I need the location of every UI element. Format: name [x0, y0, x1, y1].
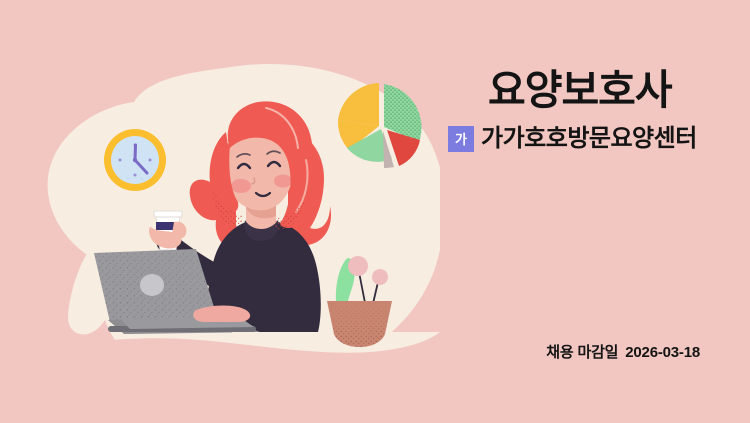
center-name: 가가호호방문요양센터 — [481, 127, 697, 151]
blush-left — [231, 179, 251, 193]
flower-ball-1 — [348, 256, 368, 276]
center-name-row: 가 가가호호방문요양센터 — [448, 126, 697, 152]
page-title: 요양보호사 — [488, 70, 672, 111]
cup-lid — [154, 211, 182, 217]
clock-icon — [104, 129, 166, 191]
deadline-date: 2026-03-18 — [625, 344, 700, 361]
text-panel: 요양보호사 가 가가호호방문요양센터 채용 마감일2026-03-18 — [440, 0, 750, 423]
flower-ball-2 — [372, 269, 388, 285]
deadline-label: 채용 마감일 — [546, 344, 618, 361]
job-posting-banner: 요양보호사 가 가가호호방문요양센터 채용 마감일2026-03-18 — [0, 0, 750, 423]
blush-right — [274, 175, 292, 188]
deadline-row: 채용 마감일2026-03-18 — [546, 341, 700, 362]
ga-badge-icon: 가 — [448, 126, 474, 152]
laptop-logo — [140, 274, 164, 296]
illustration-panel — [0, 0, 440, 423]
